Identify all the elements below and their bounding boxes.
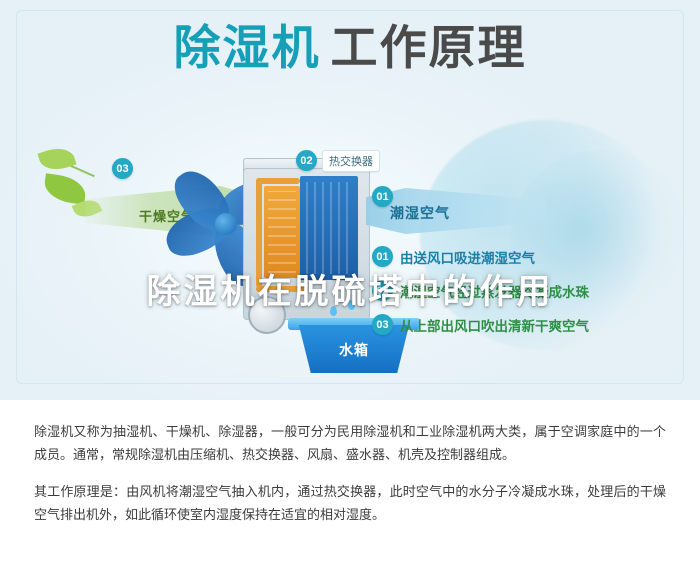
step-text: 从上部出风口吹出清新干爽空气	[400, 315, 589, 335]
step-badge: 03	[372, 314, 393, 335]
leaf-icon	[37, 143, 76, 174]
refrigerant-pipe	[256, 286, 308, 292]
paragraph-2: 其工作原理是：由风机将潮湿空气抽入机内，通过热交换器，此时空气中的水分子冷凝成水…	[34, 480, 666, 526]
heat-exchanger-callout: 热交换器	[322, 150, 380, 172]
evaporator-coil	[300, 176, 358, 280]
water-drop-icon	[348, 300, 355, 310]
step-badge: 01	[372, 246, 393, 267]
step-text: 由送风口吸进潮湿空气	[400, 247, 535, 267]
step-badge: 02	[372, 280, 393, 301]
water-drop-icon	[330, 306, 337, 316]
list-item: 03 从上部出风口吹出清新干爽空气	[372, 314, 682, 335]
refrigerant-pipe	[256, 178, 262, 288]
fan-hub	[215, 213, 237, 235]
humid-air-label: 潮湿空气	[390, 203, 520, 223]
page-root: 除湿机工作原理 干燥空气 03 02 热交换器 01 潮湿空气	[0, 0, 700, 566]
title-part-1: 除湿机	[174, 21, 321, 74]
refrigerant-pipe	[256, 178, 300, 184]
compressor-icon	[248, 296, 286, 334]
badge-02: 02	[296, 150, 317, 171]
hero-illustration: 除湿机工作原理 干燥空气 03 02 热交换器 01 潮湿空气	[0, 0, 700, 400]
step-text: 潮湿空气经过蒸发器冷凝成水珠	[400, 281, 589, 301]
article-body: 除湿机又称为抽湿机、干燥机、除湿器，一般可分为民用除湿机和工业除湿机两大类，属于…	[0, 404, 700, 566]
step-list: 01 由送风口吸进潮湿空气 02 潮湿空气经过蒸发器冷凝成水珠 03 从上部出风…	[372, 246, 682, 348]
page-title: 除湿机工作原理	[0, 24, 700, 71]
paragraph-1: 除湿机又称为抽湿机、干燥机、除湿器，一般可分为民用除湿机和工业除湿机两大类，属于…	[34, 420, 666, 466]
title-part-2: 工作原理	[331, 21, 527, 74]
list-item: 01 由送风口吸进潮湿空气	[372, 246, 682, 267]
condenser-coil	[264, 186, 300, 278]
leaf-icon	[42, 173, 87, 205]
list-item: 02 潮湿空气经过蒸发器冷凝成水珠	[372, 280, 682, 301]
badge-03-left: 03	[112, 158, 133, 179]
